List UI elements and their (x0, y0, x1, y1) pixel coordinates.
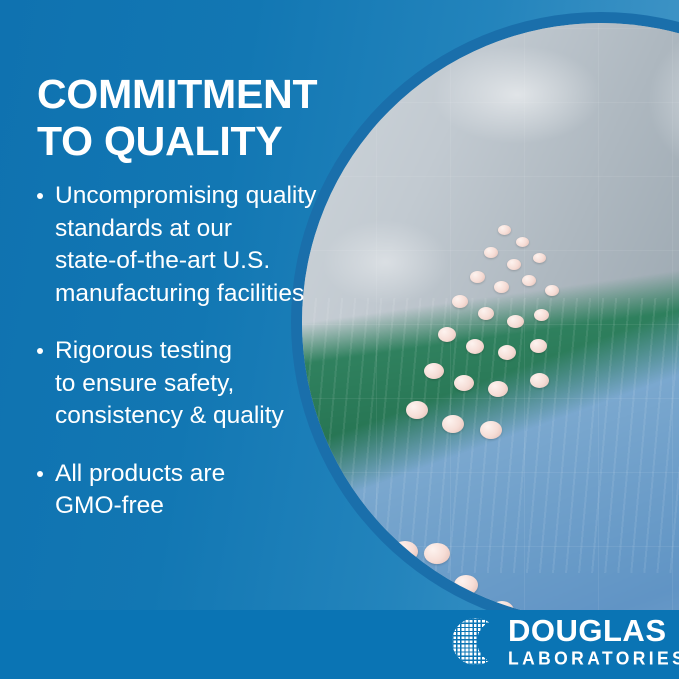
bullet-line: All products are (55, 458, 354, 491)
tablet (507, 259, 521, 270)
bullet-dot-icon (37, 471, 43, 477)
bullet-dot-icon (37, 348, 43, 354)
logo-brand: DOUGLAS (508, 616, 679, 645)
tablet (452, 295, 468, 308)
list-item: Uncompromising quality standards at our … (34, 180, 354, 310)
tablet (498, 345, 516, 360)
tablet (392, 541, 418, 562)
tablet (507, 315, 524, 328)
tablet (545, 285, 559, 296)
tablet (533, 253, 546, 263)
tablet (480, 421, 502, 439)
bullet-line: to ensure safety, (55, 368, 354, 401)
tablet (438, 327, 456, 342)
bullet-line: standards at our (55, 213, 354, 246)
tablet (442, 415, 464, 433)
tablet (478, 307, 494, 320)
tablet (484, 247, 498, 258)
tablet (522, 275, 536, 286)
tablet (516, 237, 529, 247)
tablet (498, 225, 511, 235)
tablet (406, 401, 428, 419)
list-item: Rigorous testing to ensure safety, consi… (34, 335, 354, 433)
douglas-laboratories-logo: DOUGLAS LABORATORIES® (452, 616, 679, 668)
bullet-line: Rigorous testing (55, 335, 354, 368)
tablet (534, 309, 549, 321)
tablet (424, 543, 450, 564)
bullet-line: manufacturing facilities (55, 278, 354, 311)
commitment-to-quality-poster: COMMITMENT TO QUALITY Uncompromising qua… (0, 0, 679, 679)
tablet (470, 271, 485, 283)
logo-mesh-lines (452, 618, 499, 665)
headline-line-2: TO QUALITY (37, 118, 367, 165)
tablet (454, 575, 478, 595)
logo-subbrand: LABORATORIES® (508, 645, 679, 669)
bullet-line: consistency & quality (55, 400, 354, 433)
benefits-list: Uncompromising quality standards at our … (34, 180, 354, 523)
bullet-dot-icon (37, 193, 43, 199)
headline-line-1: COMMITMENT (37, 71, 317, 117)
grid-sphere-icon (452, 618, 499, 665)
logo-subbrand-text: LABORATORIES (508, 648, 679, 669)
bullet-line: GMO-free (55, 490, 354, 523)
tablet (424, 363, 444, 379)
bullet-line: state-of-the-art U.S. (55, 245, 354, 278)
logo-wordmark: DOUGLAS LABORATORIES® (508, 616, 679, 668)
list-item: All products are GMO-free (34, 458, 354, 523)
bullet-line: Uncompromising quality (55, 180, 354, 213)
tablet (488, 381, 508, 397)
page-title: COMMITMENT TO QUALITY (37, 71, 367, 165)
tablet (530, 339, 547, 353)
tablet (530, 373, 549, 388)
tablet (494, 281, 509, 293)
tablet (454, 375, 474, 391)
tablet (466, 339, 484, 354)
